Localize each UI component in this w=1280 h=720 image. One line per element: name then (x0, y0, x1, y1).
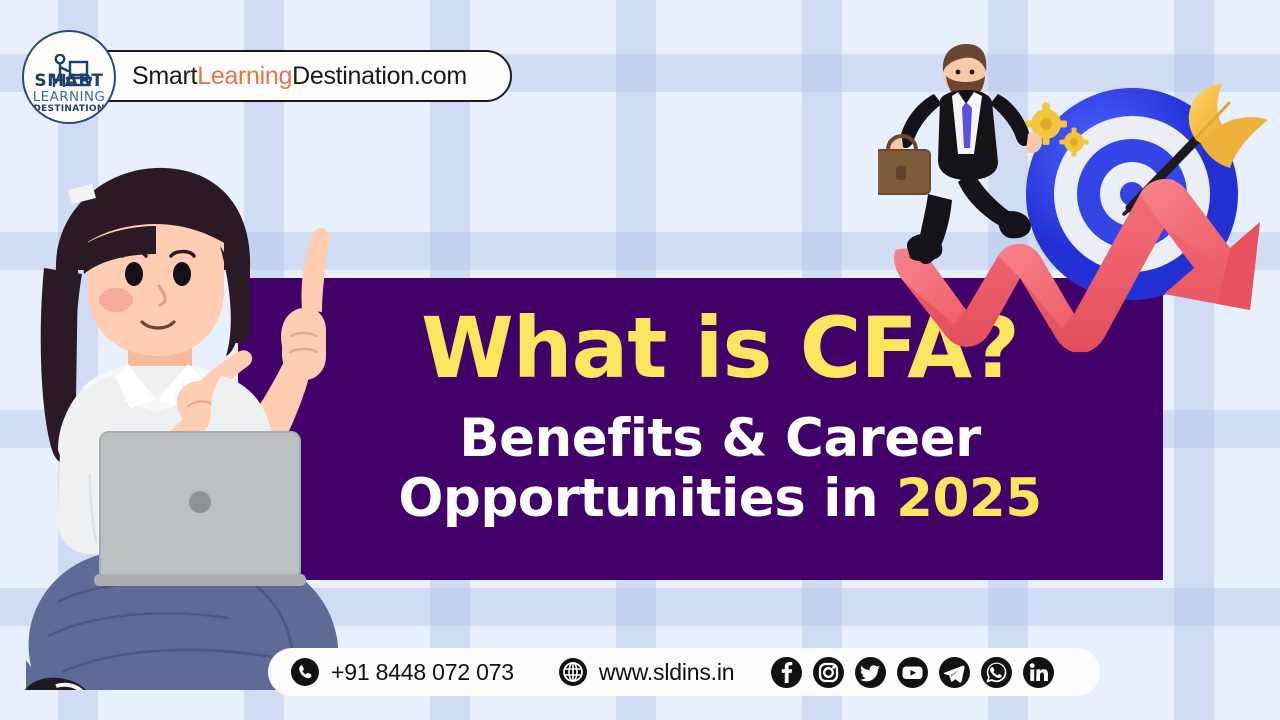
telegram-icon[interactable] (938, 656, 971, 689)
hero-year: 2025 (896, 468, 1042, 529)
hero-subline-1: Benefits & Career (459, 412, 981, 465)
wordmark-learning: Learning (197, 62, 292, 90)
badge-line-destination: DESTINATION (33, 104, 104, 115)
person-at-desk-icon (45, 54, 93, 88)
linkedin-icon[interactable] (1022, 656, 1055, 689)
businessman-figure (878, 44, 1042, 264)
woman-with-laptop-illustration (0, 150, 396, 690)
youtube-icon[interactable] (896, 656, 929, 689)
logo-badge[interactable]: "Smart Decision for Smart Education" SMA… (22, 30, 116, 124)
social-links (770, 656, 1055, 689)
badge-line-learning: LEARNING (33, 90, 106, 104)
wordmark: SmartLearningDestination.com (132, 62, 467, 91)
hero-subline-2: Opportunities in 2025 (398, 472, 1041, 525)
facebook-icon[interactable] (770, 656, 803, 689)
phone-number: +91 8448 072 073 (331, 659, 514, 686)
hero-subline-2-prefix: Opportunities in (398, 468, 896, 529)
wordmark-smart: Smart (132, 62, 197, 90)
website-url: www.sldins.in (599, 659, 734, 686)
banner-canvas: What is CFA? Benefits & Career Opportuni… (0, 0, 1280, 720)
website-contact[interactable]: www.sldins.in (558, 657, 734, 687)
globe-icon (558, 657, 588, 687)
growth-target-illustration (878, 42, 1278, 352)
site-url-pill[interactable]: SmartLearningDestination.com (62, 50, 512, 102)
whatsapp-icon[interactable] (980, 656, 1013, 689)
wordmark-destination: Destination.com (292, 62, 467, 90)
contact-bar: +91 8448 072 073 www.sldins.in (268, 648, 1100, 696)
instagram-icon[interactable] (812, 656, 845, 689)
phone-contact[interactable]: +91 8448 072 073 (290, 657, 514, 687)
phone-icon (290, 657, 320, 687)
twitter-icon[interactable] (854, 656, 887, 689)
